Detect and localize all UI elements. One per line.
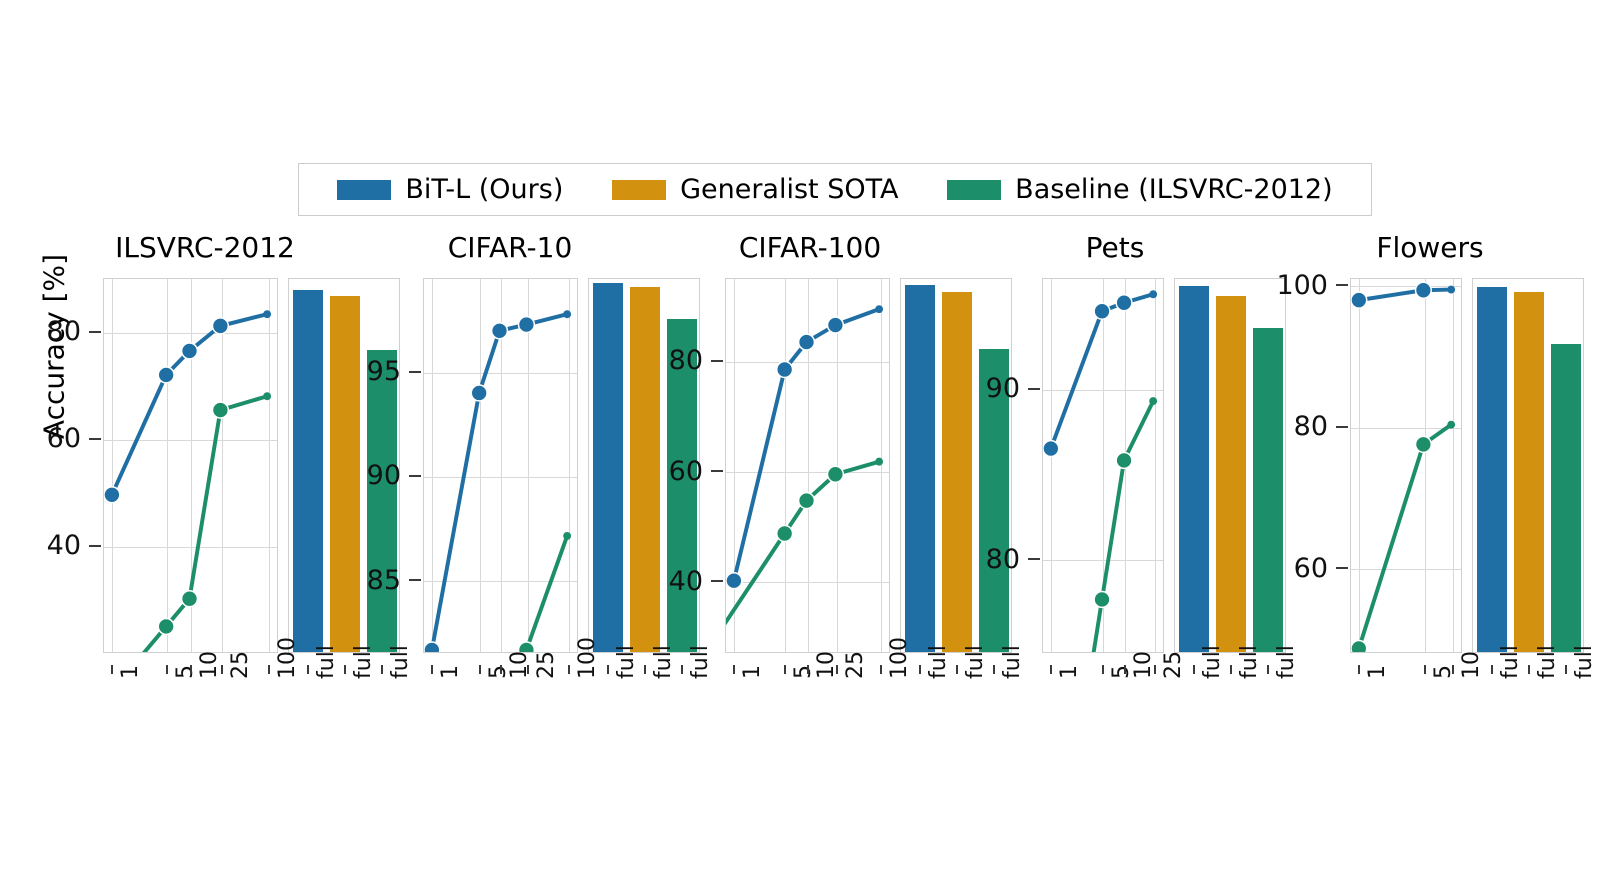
series-line <box>1359 290 1451 301</box>
legend-entry-generalist-sota: Generalist SOTA <box>612 176 898 203</box>
x-tick-mark <box>344 665 346 674</box>
data-point <box>182 343 198 359</box>
bar <box>1179 286 1209 652</box>
y-tick: 40 <box>639 567 723 595</box>
y-tick-mark <box>1336 426 1348 428</box>
data-point <box>563 310 571 318</box>
y-tick-mark <box>409 579 421 581</box>
x-tick-label: 100 <box>277 637 299 679</box>
y-tick: 90 <box>956 375 1040 403</box>
x-tick-mark <box>880 665 882 674</box>
panel-flowers: Flowers60801001510fullfullfull <box>1280 232 1580 667</box>
x-tick-label: 1 <box>1367 665 1389 679</box>
bar <box>1551 344 1581 652</box>
x-tick-label: 1 <box>440 665 462 679</box>
bar <box>942 292 972 652</box>
data-point <box>563 532 571 540</box>
x-tick-label: 5 <box>175 665 197 679</box>
bar <box>1253 328 1283 652</box>
x-tick-mark <box>307 665 309 674</box>
data-point <box>263 310 271 318</box>
x-tick-mark <box>644 665 646 674</box>
panel-cifar-100: CIFAR-100406080151025100fullfullfull <box>660 232 960 667</box>
x-tick-label: 1 <box>742 665 764 679</box>
y-tick-label: 95 <box>367 358 401 385</box>
x-tick-label: 1 <box>120 665 142 679</box>
line-plot-area <box>725 278 890 653</box>
x-tick-label: full <box>1202 645 1224 679</box>
y-tick-mark <box>409 371 421 373</box>
y-tick-label: 80 <box>986 546 1020 573</box>
y-tick-mark <box>711 360 723 362</box>
panel-title: Flowers <box>1280 232 1580 264</box>
line-plot-area <box>423 278 578 653</box>
x-tick-label: full <box>1239 645 1261 679</box>
legend-entry-bit-l: BiT-L (Ours) <box>337 176 563 203</box>
legend-label-generalist-sota: Generalist SOTA <box>680 176 898 203</box>
data-point <box>777 362 793 378</box>
y-tick-label: 90 <box>367 462 401 489</box>
panel-pets: Pets8090151025fullfullfull <box>970 232 1260 667</box>
data-point <box>1447 286 1455 294</box>
y-tick-label: 80 <box>669 347 703 374</box>
bar <box>593 283 623 652</box>
data-point <box>828 466 844 482</box>
x-tick-mark <box>1452 665 1454 674</box>
data-point <box>1116 452 1132 468</box>
data-point <box>875 458 883 466</box>
y-tick-mark <box>89 331 101 333</box>
x-tick-label: 10 <box>1133 651 1155 679</box>
x-tick-mark <box>431 665 433 674</box>
y-tick-label: 60 <box>47 425 81 452</box>
x-tick-mark <box>836 665 838 674</box>
x-tick-mark <box>733 665 735 674</box>
data-point <box>424 642 440 653</box>
x-tick-mark <box>956 665 958 674</box>
y-tick-label: 100 <box>1276 272 1328 299</box>
bar-plot-area <box>1472 278 1584 653</box>
x-tick-mark <box>1528 665 1530 674</box>
y-tick-label: 60 <box>669 458 703 485</box>
data-point <box>212 402 228 418</box>
data-point <box>1043 441 1059 457</box>
y-tick: 60 <box>1264 554 1348 582</box>
bar <box>1514 292 1544 652</box>
x-tick-label: 10 <box>199 651 221 679</box>
data-point <box>1447 421 1455 429</box>
y-tick: 60 <box>639 457 723 485</box>
series-line <box>119 396 267 653</box>
bar <box>1216 296 1246 652</box>
x-tick-mark <box>1358 665 1360 674</box>
x-tick-label: 25 <box>536 651 558 679</box>
x-tick-mark <box>1193 665 1195 674</box>
data-point <box>212 318 228 334</box>
y-tick-label: 85 <box>367 567 401 594</box>
bar-plot-area <box>1174 278 1286 653</box>
data-point <box>1149 397 1157 405</box>
x-tick-label: 100 <box>577 637 599 679</box>
data-point <box>519 317 535 333</box>
panel-title: ILSVRC-2012 <box>60 232 350 264</box>
data-point <box>799 334 815 350</box>
x-tick-mark <box>1267 665 1269 674</box>
data-point <box>1416 436 1432 452</box>
data-point <box>158 618 174 634</box>
x-tick-mark <box>527 665 529 674</box>
x-tick-label: full <box>1574 645 1596 679</box>
legend-label-bit-l: BiT-L (Ours) <box>405 176 563 203</box>
data-point <box>158 367 174 383</box>
series-line <box>515 536 567 653</box>
data-point <box>777 526 793 542</box>
line-plot-area <box>1350 278 1462 653</box>
series-layer <box>1351 279 1461 652</box>
panel-cifar-10: CIFAR-10859095151025100fullfullfull <box>370 232 650 667</box>
x-tick-label: full <box>1500 645 1522 679</box>
x-tick-mark <box>1050 665 1052 674</box>
y-tick: 85 <box>337 566 421 594</box>
x-tick-mark <box>807 665 809 674</box>
x-tick-label: 25 <box>230 651 252 679</box>
x-tick-mark <box>1230 665 1232 674</box>
y-tick: 80 <box>1264 413 1348 441</box>
y-tick: 80 <box>639 347 723 375</box>
x-tick-label: 5 <box>1111 665 1133 679</box>
legend-swatch-orange-icon <box>612 180 666 200</box>
data-point <box>799 493 815 509</box>
y-tick-label: 80 <box>1294 413 1328 440</box>
y-tick: 80 <box>17 318 101 346</box>
x-tick-mark <box>190 665 192 674</box>
legend-label-baseline: Baseline (ILSVRC-2012) <box>1015 176 1332 203</box>
series-layer <box>424 279 577 652</box>
bar <box>293 290 323 652</box>
data-point <box>828 317 844 333</box>
figure-root: BiT-L (Ours) Generalist SOTA Baseline (I… <box>0 0 1600 891</box>
legend: BiT-L (Ours) Generalist SOTA Baseline (I… <box>298 163 1372 216</box>
y-tick-label: 90 <box>986 375 1020 402</box>
x-tick-label: 25 <box>1163 651 1185 679</box>
y-tick-mark <box>711 470 723 472</box>
bar <box>1477 287 1507 652</box>
series-line <box>1089 401 1153 653</box>
bar <box>905 285 935 652</box>
data-point <box>104 487 120 503</box>
y-tick-label: 40 <box>669 568 703 595</box>
x-tick-mark <box>1424 665 1426 674</box>
x-tick-label: 25 <box>845 651 867 679</box>
y-tick-mark <box>89 438 101 440</box>
series-layer <box>726 279 889 652</box>
x-tick-label: 1 <box>1059 665 1081 679</box>
panel-title: CIFAR-100 <box>660 232 960 264</box>
y-tick: 90 <box>337 462 421 490</box>
data-point <box>1094 303 1110 319</box>
x-tick-label: 10 <box>1461 651 1483 679</box>
data-point <box>492 323 508 339</box>
y-tick: 80 <box>956 545 1040 573</box>
data-point <box>1351 641 1367 653</box>
series-line <box>725 462 879 653</box>
x-tick-mark <box>1124 665 1126 674</box>
series-line <box>432 314 567 650</box>
y-tick-mark <box>1028 558 1040 560</box>
x-tick-mark <box>1102 665 1104 674</box>
x-tick-label: full <box>1537 645 1559 679</box>
y-tick-mark <box>1028 388 1040 390</box>
y-tick-label: 60 <box>1294 555 1328 582</box>
data-point <box>875 305 883 313</box>
data-point <box>263 392 271 400</box>
y-tick: 60 <box>17 425 101 453</box>
x-tick-label: 10 <box>816 651 838 679</box>
x-tick-mark <box>221 665 223 674</box>
data-point <box>182 591 198 607</box>
x-tick-mark <box>568 665 570 674</box>
x-tick-mark <box>784 665 786 674</box>
x-tick-mark <box>111 665 113 674</box>
x-tick-label: full <box>616 645 638 679</box>
x-tick-mark <box>166 665 168 674</box>
legend-swatch-blue-icon <box>337 180 391 200</box>
x-tick-label: 5 <box>793 665 815 679</box>
x-tick-mark <box>500 665 502 674</box>
data-point <box>1416 282 1432 298</box>
data-point <box>1351 292 1367 308</box>
panel-title: Pets <box>970 232 1260 264</box>
panel-ilsvrc-2012: ILSVRC-2012406080151025100fullfullfull <box>60 232 350 667</box>
line-plot-area <box>1042 278 1164 653</box>
y-tick-mark <box>1336 567 1348 569</box>
data-point <box>1094 591 1110 607</box>
series-layer <box>1043 279 1163 652</box>
y-tick: 100 <box>1264 271 1348 299</box>
series-layer <box>104 279 277 652</box>
series-line <box>1359 425 1451 649</box>
data-point <box>1149 290 1157 298</box>
x-tick-mark <box>919 665 921 674</box>
x-tick-mark <box>479 665 481 674</box>
y-tick-label: 40 <box>47 532 81 559</box>
y-tick: 95 <box>337 358 421 386</box>
data-point <box>471 385 487 401</box>
x-tick-label: full <box>316 645 338 679</box>
line-plot-area <box>103 278 278 653</box>
x-tick-mark <box>607 665 609 674</box>
x-tick-mark <box>268 665 270 674</box>
x-tick-label: 100 <box>889 637 911 679</box>
x-tick-mark <box>1491 665 1493 674</box>
data-point <box>1116 295 1132 311</box>
y-tick-label: 80 <box>47 318 81 345</box>
y-tick-mark <box>409 475 421 477</box>
panel-title: CIFAR-10 <box>370 232 650 264</box>
data-point <box>726 573 742 589</box>
x-tick-mark <box>1565 665 1567 674</box>
y-tick-mark <box>1336 284 1348 286</box>
x-tick-label: full <box>928 645 950 679</box>
y-tick: 40 <box>17 532 101 560</box>
x-tick-mark <box>1154 665 1156 674</box>
y-tick-mark <box>89 545 101 547</box>
legend-entry-baseline: Baseline (ILSVRC-2012) <box>947 176 1332 203</box>
y-tick-mark <box>711 580 723 582</box>
legend-swatch-green-icon <box>947 180 1001 200</box>
